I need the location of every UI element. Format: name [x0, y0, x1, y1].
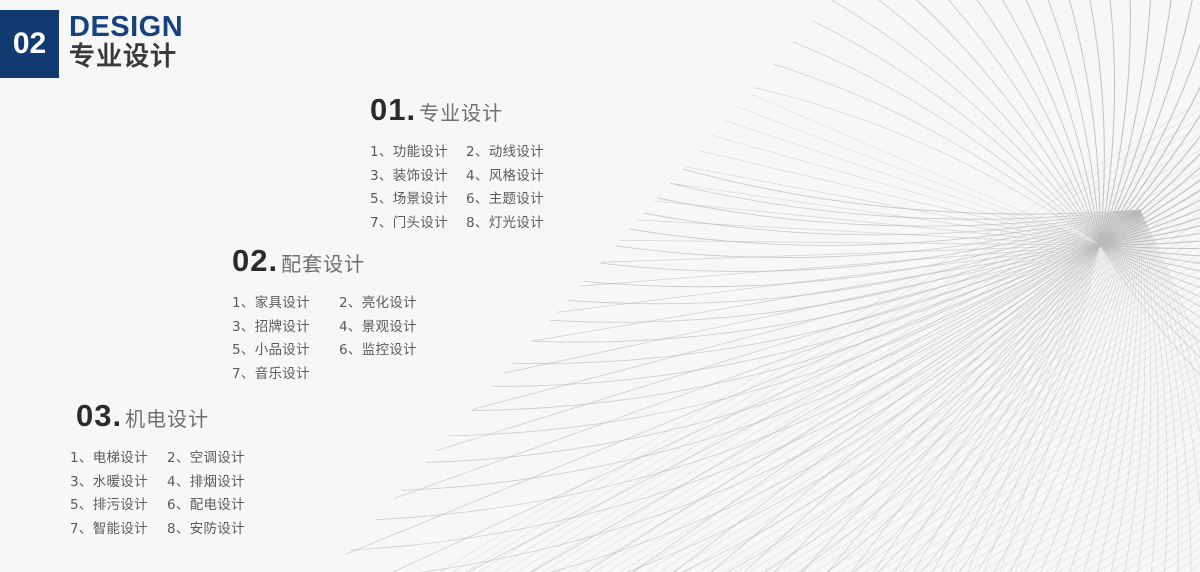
- list-item: 7、门头设计 8、灯光设计: [370, 212, 562, 236]
- list-cell: 1、家具设计: [232, 292, 339, 316]
- block-01-list: 1、功能设计 2、动线设计 3、装饰设计 4、风格设计 5、场景设计 6、主题设…: [370, 141, 562, 235]
- list-item: 5、小品设计 6、监控设计: [232, 339, 446, 363]
- list-cell: 3、装饰设计: [370, 165, 466, 189]
- block-03-number: 03.: [76, 398, 122, 434]
- slide-root: 02 DESIGN 专业设计 01. 专业设计 1、功能设计 2、动线设计 3、…: [0, 0, 1200, 572]
- block-02-name: 配套设计: [281, 248, 365, 277]
- list-item: 5、排污设计 6、配电设计: [70, 494, 264, 518]
- block-02-number: 02.: [232, 243, 278, 279]
- section-header-text: DESIGN 专业设计: [69, 10, 183, 73]
- list-item: 1、功能设计 2、动线设计: [370, 141, 562, 165]
- section-number-badge: 02: [0, 10, 59, 78]
- list-cell: 4、排烟设计: [167, 471, 264, 495]
- list-item: 7、智能设计 8、安防设计: [70, 518, 264, 542]
- list-cell: 8、安防设计: [167, 518, 264, 542]
- block-02-title: 02. 配套设计: [232, 243, 446, 279]
- block-03-list: 1、电梯设计 2、空调设计 3、水暖设计 4、排烟设计 5、排污设计 6、配电设…: [70, 447, 264, 541]
- list-cell: 7、音乐设计: [232, 363, 339, 387]
- list-cell: 2、空调设计: [167, 447, 264, 471]
- list-cell: 5、场景设计: [370, 188, 466, 212]
- list-cell: 6、配电设计: [167, 494, 264, 518]
- list-cell: 3、水暖设计: [70, 471, 167, 495]
- block-01-title: 01. 专业设计: [370, 92, 562, 128]
- list-cell: 3、招牌设计: [232, 316, 339, 340]
- section-title-en: DESIGN: [69, 12, 183, 42]
- block-02-list: 1、家具设计 2、亮化设计 3、招牌设计 4、景观设计 5、小品设计 6、监控设…: [232, 292, 446, 386]
- section-title-cn: 专业设计: [69, 43, 183, 73]
- list-cell: 1、电梯设计: [70, 447, 167, 471]
- list-cell: 1、功能设计: [370, 141, 466, 165]
- list-cell: 5、排污设计: [70, 494, 167, 518]
- section-header: 02 DESIGN 专业设计: [0, 10, 183, 78]
- list-cell: 4、风格设计: [466, 165, 562, 189]
- list-cell: 4、景观设计: [339, 316, 446, 340]
- list-item: 3、招牌设计 4、景观设计: [232, 316, 446, 340]
- block-03-name: 机电设计: [125, 403, 209, 432]
- list-cell: 2、亮化设计: [339, 292, 446, 316]
- block-01-number: 01.: [370, 92, 416, 128]
- list-item: 1、电梯设计 2、空调设计: [70, 447, 264, 471]
- list-cell: 6、主题设计: [466, 188, 562, 212]
- list-cell: 7、门头设计: [370, 212, 466, 236]
- list-item: 3、水暖设计 4、排烟设计: [70, 471, 264, 495]
- content-block-01: 01. 专业设计 1、功能设计 2、动线设计 3、装饰设计 4、风格设计 5、场…: [370, 92, 562, 235]
- list-cell: 2、动线设计: [466, 141, 562, 165]
- list-item: 5、场景设计 6、主题设计: [370, 188, 562, 212]
- block-03-title: 03. 机电设计: [76, 398, 264, 434]
- list-item: 1、家具设计 2、亮化设计: [232, 292, 446, 316]
- list-cell: 8、灯光设计: [466, 212, 562, 236]
- list-cell: 7、智能设计: [70, 518, 167, 542]
- content-block-03: 03. 机电设计 1、电梯设计 2、空调设计 3、水暖设计 4、排烟设计 5、排…: [76, 398, 264, 541]
- block-01-name: 专业设计: [419, 97, 503, 126]
- list-item: 3、装饰设计 4、风格设计: [370, 165, 562, 189]
- content-block-02: 02. 配套设计 1、家具设计 2、亮化设计 3、招牌设计 4、景观设计 5、小…: [232, 243, 446, 386]
- list-cell: 5、小品设计: [232, 339, 339, 363]
- list-cell: [339, 363, 446, 387]
- list-cell: 6、监控设计: [339, 339, 446, 363]
- list-item: 7、音乐设计: [232, 363, 446, 387]
